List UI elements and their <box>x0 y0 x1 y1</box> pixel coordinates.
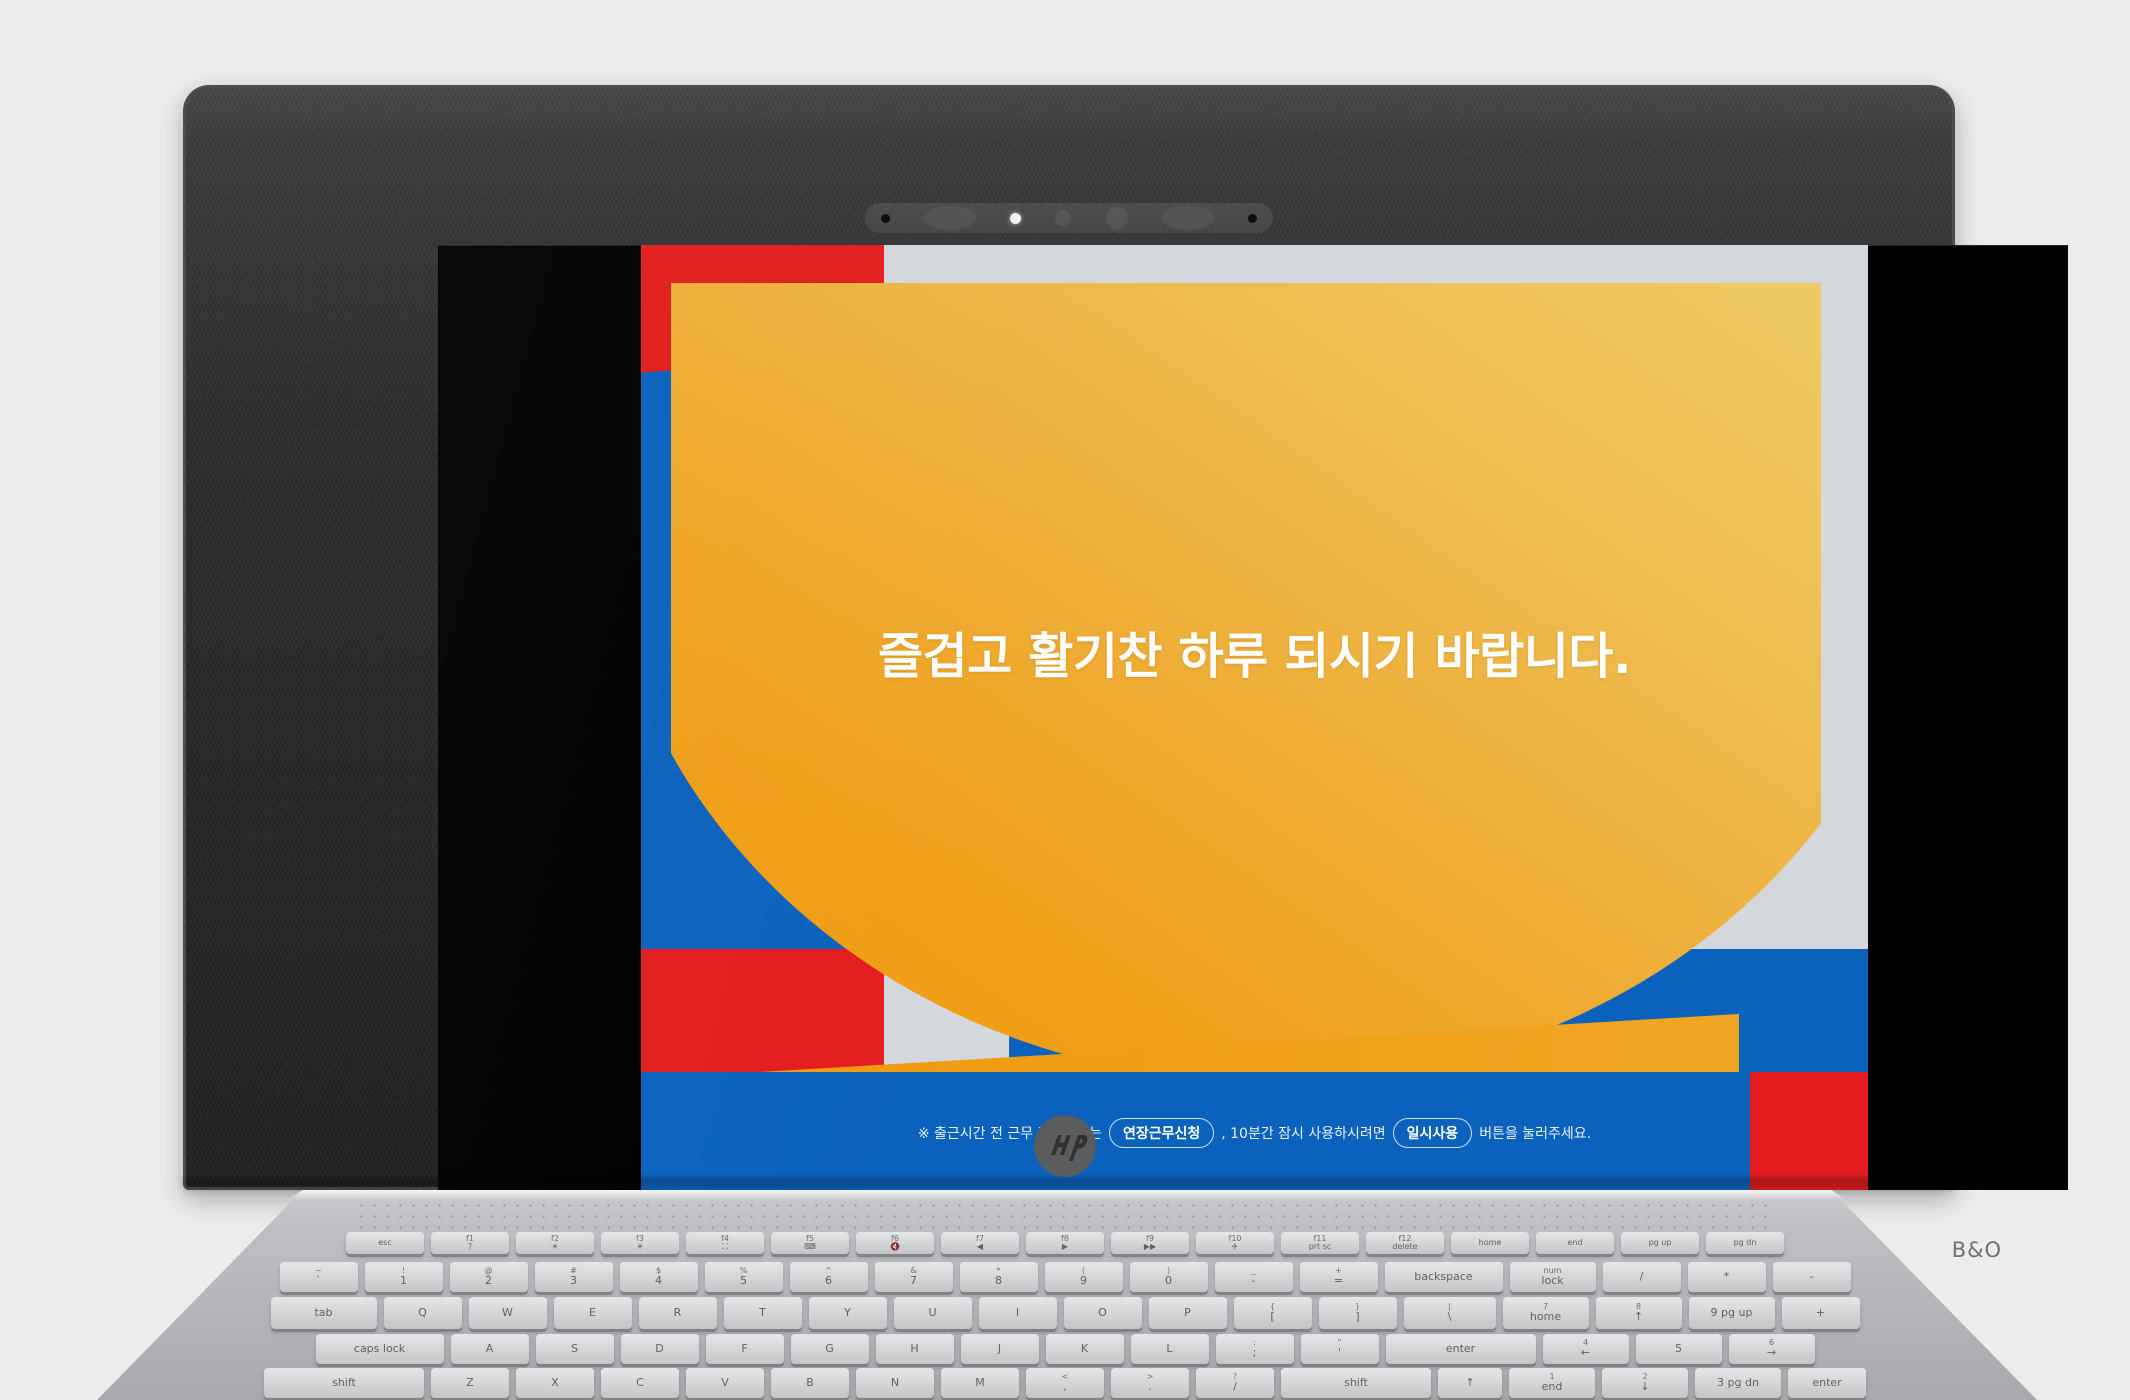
key-g[interactable]: G <box>791 1334 869 1364</box>
key-0[interactable]: )0 <box>1130 1262 1208 1292</box>
key-f7[interactable]: f7◀ <box>941 1232 1019 1254</box>
key-end[interactable]: end <box>1536 1232 1614 1254</box>
sensor-blob-icon <box>1162 206 1214 230</box>
key-n[interactable]: N <box>856 1368 934 1398</box>
key-enter[interactable]: enter <box>1788 1368 1866 1398</box>
key-f2[interactable]: f2☀ <box>516 1232 594 1254</box>
key-7-home[interactable]: 7home <box>1503 1297 1589 1329</box>
key-6[interactable]: ^6 <box>790 1262 868 1292</box>
keyboard-row-number: ~`!1@2#3$4%5^6&7*8(9)0_-+=backspacenumlo… <box>0 1262 2130 1292</box>
notice-suffix: 버튼을 눌러주세요. <box>1479 1123 1591 1143</box>
page-title: 즐겁고 활기찬 하루 되시기 바랍니다. <box>641 617 1868 688</box>
notice-middle: , 10분간 잠시 사용하시려면 <box>1221 1123 1385 1143</box>
key-z[interactable]: Z <box>431 1368 509 1398</box>
key-[interactable]: "' <box>1301 1334 1379 1364</box>
camera-led-icon <box>1010 213 1021 224</box>
key-caps-lock[interactable]: caps lock <box>316 1334 444 1364</box>
key-[interactable]: |\ <box>1404 1297 1496 1329</box>
key-pg-up[interactable]: pg up <box>1621 1232 1699 1254</box>
key-[interactable]: += <box>1300 1262 1378 1292</box>
key-4[interactable]: 4← <box>1543 1334 1629 1364</box>
key-3-pg-dn[interactable]: 3 pg dn <box>1695 1368 1781 1398</box>
key-8[interactable]: 8↑ <box>1596 1297 1682 1329</box>
key-esc[interactable]: esc <box>346 1232 424 1254</box>
speaker-grille <box>355 1200 1775 1234</box>
key-[interactable]: / <box>1603 1262 1681 1292</box>
key-p[interactable]: P <box>1149 1297 1227 1329</box>
key-shift[interactable]: shift <box>264 1368 424 1398</box>
webcam-strip <box>865 203 1273 233</box>
key-j[interactable]: J <box>961 1334 1039 1364</box>
key-[interactable]: - <box>1773 1262 1851 1292</box>
notice-pill-temp-use: 일시사용 <box>1393 1118 1473 1148</box>
key-c[interactable]: C <box>601 1368 679 1398</box>
base-top-edge <box>97 1190 2037 1200</box>
key-f5[interactable]: f5⌨ <box>771 1232 849 1254</box>
key-f6[interactable]: f6🔇 <box>856 1232 934 1254</box>
mic-hole-icon <box>1248 214 1257 223</box>
ir-sensor-icon <box>1055 210 1071 226</box>
key-r[interactable]: R <box>639 1297 717 1329</box>
sensor-blob-icon <box>924 206 976 230</box>
key-backspace[interactable]: backspace <box>1385 1262 1503 1292</box>
key-home[interactable]: home <box>1451 1232 1529 1254</box>
key-k[interactable]: K <box>1046 1334 1124 1364</box>
key-t[interactable]: T <box>724 1297 802 1329</box>
key-pg-dn[interactable]: pg dn <box>1706 1232 1784 1254</box>
notice-pill-overtime: 연장근무신청 <box>1109 1118 1214 1148</box>
key-[interactable]: {[ <box>1234 1297 1312 1329</box>
key-[interactable]: * <box>1688 1262 1766 1292</box>
key-i[interactable]: I <box>979 1297 1057 1329</box>
key-e[interactable]: E <box>554 1297 632 1329</box>
key-h[interactable]: H <box>876 1334 954 1364</box>
hp-logo <box>1034 1115 1096 1177</box>
key-[interactable]: :; <box>1216 1334 1294 1364</box>
key-f9[interactable]: f9▶▶ <box>1111 1232 1189 1254</box>
key-[interactable]: <, <box>1026 1368 1104 1398</box>
key-3[interactable]: #3 <box>535 1262 613 1292</box>
key-m[interactable]: M <box>941 1368 1019 1398</box>
key-5[interactable]: 5 <box>1636 1334 1722 1364</box>
keyboard-row-a: caps lockASDFGHJKL:;"'enter4←56→ <box>0 1334 2130 1364</box>
key-8[interactable]: *8 <box>960 1262 1038 1292</box>
key-f1[interactable]: f1? <box>431 1232 509 1254</box>
key-2[interactable]: @2 <box>450 1262 528 1292</box>
laptop-lid: 즐겁고 활기찬 하루 되시기 바랍니다. ※ 출근시간 전 근무 필요시에는 연… <box>183 85 1955 1190</box>
hp-laptop: 즐겁고 활기찬 하루 되시기 바랍니다. ※ 출근시간 전 근무 필요시에는 연… <box>0 0 2130 1400</box>
key-1[interactable]: !1 <box>365 1262 443 1292</box>
key-y[interactable]: Y <box>809 1297 887 1329</box>
key-7[interactable]: &7 <box>875 1262 953 1292</box>
key-enter[interactable]: enter <box>1386 1334 1536 1364</box>
key-[interactable]: ?/ <box>1196 1368 1274 1398</box>
keyboard-row-q: tabQWERTYUIOP{[}]|\7home8↑9 pg up+ <box>0 1297 2130 1329</box>
key-num-lock[interactable]: numlock <box>1510 1262 1596 1292</box>
key-f12[interactable]: f12delete <box>1366 1232 1444 1254</box>
key-a[interactable]: A <box>451 1334 529 1364</box>
notice-bar: ※ 출근시간 전 근무 필요시에는 연장근무신청 , 10분간 잠시 사용하시려… <box>641 1118 1868 1148</box>
keyboard-row-function: escf1?f2☀f3☀f4⛶f5⌨f6🔇f7◀f8▶f9▶▶f10✈f11pr… <box>0 1232 2130 1254</box>
key-f4[interactable]: f4⛶ <box>686 1232 764 1254</box>
key-s[interactable]: S <box>536 1334 614 1364</box>
screenshot-root: 즐겁고 활기찬 하루 되시기 바랍니다. ※ 출근시간 전 근무 필요시에는 연… <box>0 0 2130 1400</box>
key-x[interactable]: X <box>516 1368 594 1398</box>
keyboard-row-z: shiftZXCVBNM<,>.?/shift↑1end2↓3 pg dnent… <box>0 1368 2130 1398</box>
key-tab[interactable]: tab <box>271 1297 377 1329</box>
key-[interactable]: ~` <box>280 1262 358 1292</box>
key-shift[interactable]: shift <box>1281 1368 1431 1398</box>
key-6[interactable]: 6→ <box>1729 1334 1815 1364</box>
key-f10[interactable]: f10✈ <box>1196 1232 1274 1254</box>
key-l[interactable]: L <box>1131 1334 1209 1364</box>
key-w[interactable]: W <box>469 1297 547 1329</box>
key-4[interactable]: $4 <box>620 1262 698 1292</box>
key-v[interactable]: V <box>686 1368 764 1398</box>
key-2[interactable]: 2↓ <box>1602 1368 1688 1398</box>
key-f11[interactable]: f11prt sc <box>1281 1232 1359 1254</box>
key-[interactable]: }] <box>1319 1297 1397 1329</box>
key-[interactable]: + <box>1782 1297 1860 1329</box>
keyboard: escf1?f2☀f3☀f4⛶f5⌨f6🔇f7◀f8▶f9▶▶f10✈f11pr… <box>0 1232 2130 1400</box>
key-5[interactable]: %5 <box>705 1262 783 1292</box>
key-[interactable]: ↑ <box>1438 1368 1502 1398</box>
camera-lens-icon <box>1106 207 1128 229</box>
key-f8[interactable]: f8▶ <box>1026 1232 1104 1254</box>
key-9[interactable]: (9 <box>1045 1262 1123 1292</box>
mic-hole-icon <box>881 214 890 223</box>
key-[interactable]: _- <box>1215 1262 1293 1292</box>
key-1-end[interactable]: 1end <box>1509 1368 1595 1398</box>
key-f[interactable]: F <box>706 1334 784 1364</box>
key-d[interactable]: D <box>621 1334 699 1364</box>
key-[interactable]: >. <box>1111 1368 1189 1398</box>
key-q[interactable]: Q <box>384 1297 462 1329</box>
key-9-pg-up[interactable]: 9 pg up <box>1689 1297 1775 1329</box>
key-o[interactable]: O <box>1064 1297 1142 1329</box>
app-canvas: 즐겁고 활기찬 하루 되시기 바랍니다. ※ 출근시간 전 근무 필요시에는 연… <box>641 245 1868 1190</box>
laptop-screen: 즐겁고 활기찬 하루 되시기 바랍니다. ※ 출근시간 전 근무 필요시에는 연… <box>438 245 2068 1190</box>
key-b[interactable]: B <box>771 1368 849 1398</box>
key-f3[interactable]: f3☀ <box>601 1232 679 1254</box>
key-u[interactable]: U <box>894 1297 972 1329</box>
